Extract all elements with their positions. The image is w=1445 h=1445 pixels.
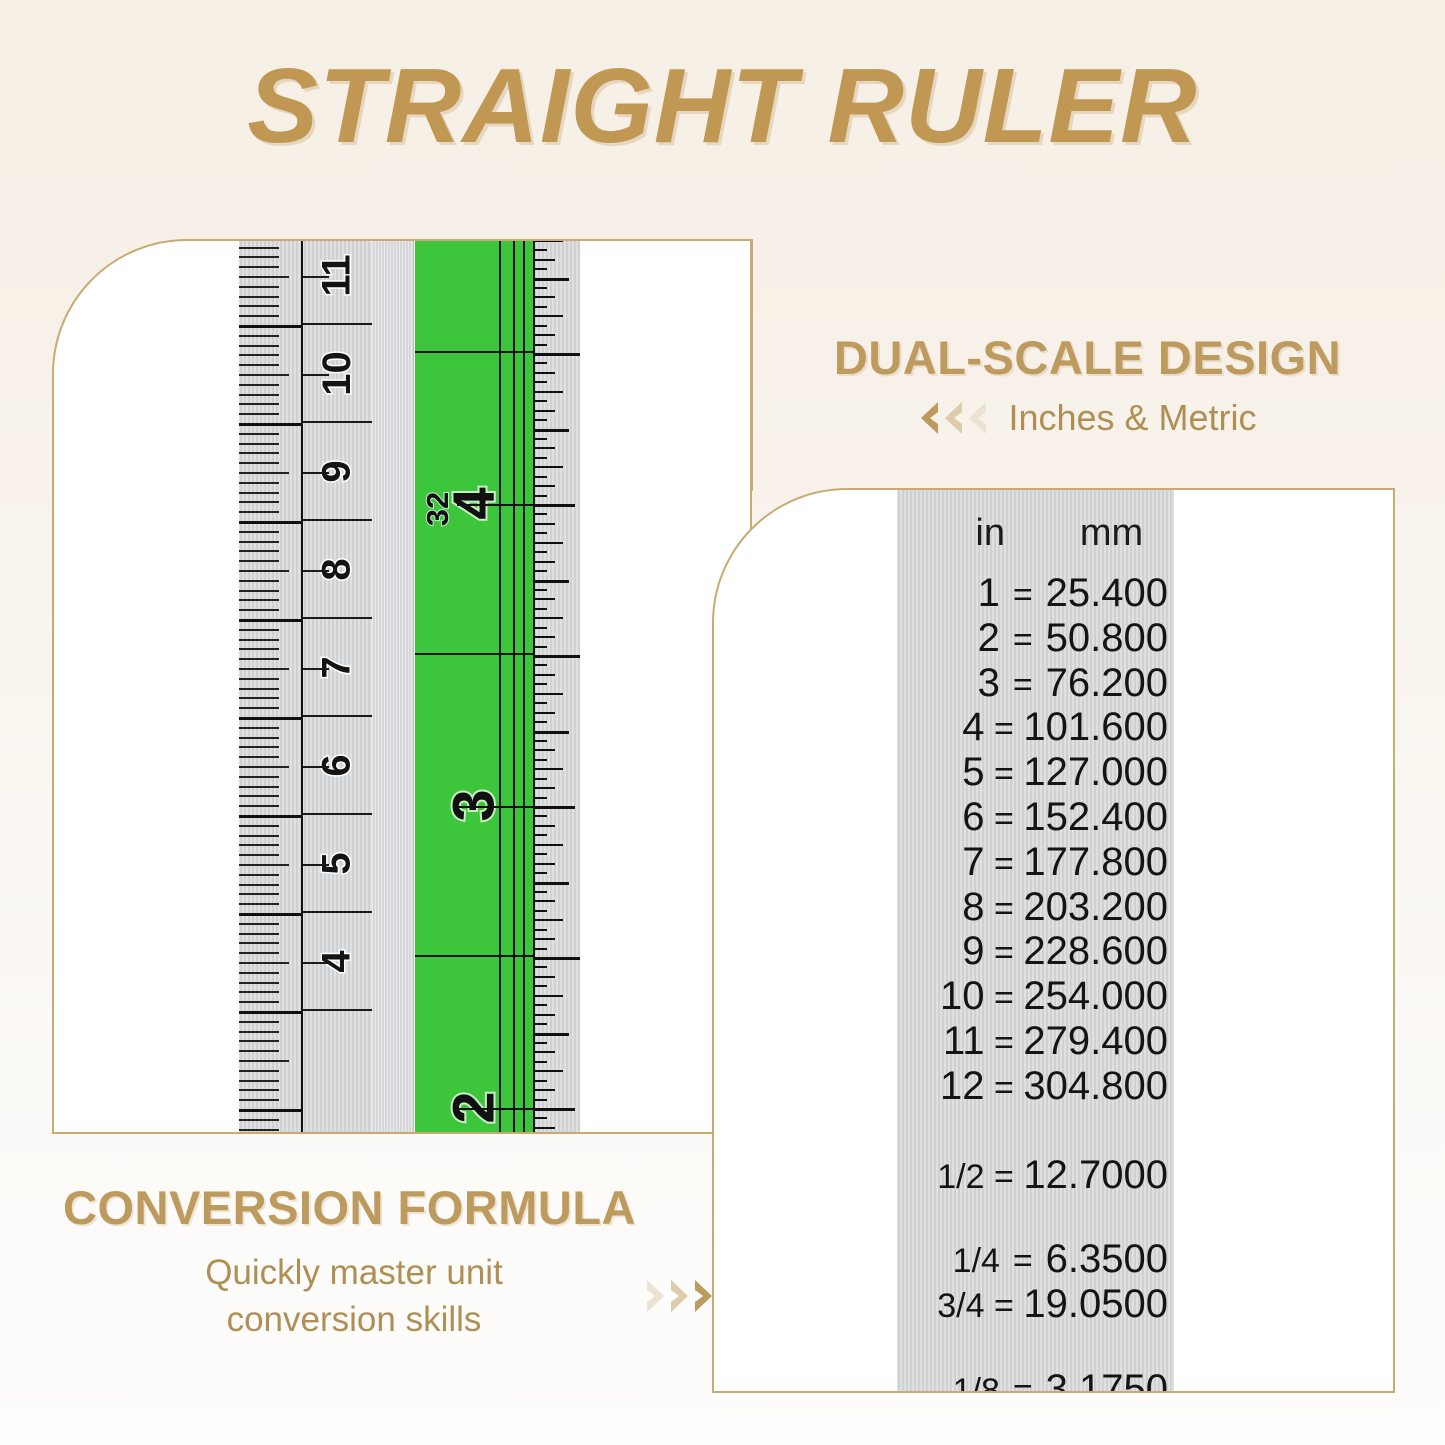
inch-fine-tick — [533, 410, 555, 412]
table-cell-mm: 19.0500 — [1023, 1282, 1174, 1327]
metric-tick — [239, 815, 301, 818]
metric-tick — [239, 501, 279, 503]
metric-tick — [239, 805, 279, 807]
metric-cm-number: 4 — [315, 950, 360, 972]
table-cell-in: 5 — [897, 750, 985, 795]
inch-fine-tick — [533, 608, 547, 610]
table-row: 1/4=6.3500 — [897, 1237, 1174, 1282]
table-row: 9=228.600 — [897, 929, 1174, 974]
metric-tick — [239, 296, 279, 298]
inch-fine-tick — [533, 278, 569, 281]
inch-fine-tick — [533, 910, 547, 912]
table-cell-mm: 50.800 — [1046, 616, 1174, 661]
metric-tick — [239, 835, 279, 837]
metric-cm-number: 7 — [315, 656, 360, 678]
table-row: 1/2=12.7000 — [897, 1153, 1174, 1198]
metric-cm-number: 8 — [315, 558, 360, 580]
metric-half-cm-tick — [303, 668, 329, 670]
table-cell-mm: 254.000 — [1023, 974, 1174, 1019]
inch-fine-graduations — [533, 241, 580, 1134]
metric-scale: 1110987654 — [239, 241, 372, 1134]
table-row: 5=127.000 — [897, 750, 1174, 795]
metric-tick — [239, 345, 279, 347]
inch-fine-tick — [533, 570, 547, 572]
conversion-formula-subline-row: Quickly master unit conversion skills — [55, 1249, 715, 1344]
metric-tick — [239, 795, 279, 797]
table-cell-equals: = — [985, 800, 1024, 838]
inch-fine-tick — [533, 381, 547, 383]
metric-tick — [239, 776, 279, 778]
chevron-left-icon — [918, 401, 940, 435]
metric-tick — [239, 697, 279, 699]
chevron-right-icon — [693, 1279, 715, 1313]
dual-scale-subline-row: Inches & Metric — [775, 397, 1400, 439]
inch-fine-tick — [533, 636, 555, 638]
metric-tick — [239, 923, 279, 925]
conversion-table-plate: in mm 1=25.4002=50.8003=76.2004=101.6005… — [897, 490, 1174, 1393]
inch-fine-tick — [533, 306, 547, 308]
table-cell-in: 6 — [897, 795, 985, 840]
table-cell-equals: = — [985, 934, 1024, 972]
metric-tick — [239, 305, 279, 307]
table-cell-in: 1/2 — [897, 1158, 985, 1196]
inch-fine-tick — [533, 240, 563, 242]
metric-tick — [239, 256, 279, 258]
metric-tick — [239, 335, 279, 337]
table-cell-mm: 25.400 — [1046, 571, 1174, 616]
conversion-formula-feature: CONVERSION FORMULA Quickly master unit c… — [55, 1180, 715, 1344]
table-cell-mm: 228.600 — [1023, 929, 1174, 974]
inch-fine-tick — [533, 447, 555, 449]
inch-fine-tick — [533, 882, 569, 885]
metric-tick — [239, 570, 289, 572]
metric-tick — [239, 756, 279, 758]
metric-tick — [239, 766, 289, 768]
table-cell-equals: = — [985, 1024, 1024, 1062]
inch-fraction-marker: 32 — [420, 492, 456, 526]
table-cell-equals: = — [985, 1069, 1024, 1107]
inch-fine-tick — [533, 523, 555, 525]
metric-tick — [239, 746, 279, 748]
metric-tick — [239, 874, 279, 876]
chevron-left-group — [918, 401, 988, 435]
chevron-left-icon — [942, 401, 964, 435]
inch-fine-tick — [533, 891, 547, 893]
table-cell-in: 3 — [897, 661, 1000, 706]
inch-fine-tick — [533, 749, 555, 751]
inch-fine-tick — [533, 268, 547, 270]
inch-fine-tick — [533, 863, 555, 865]
metric-tick — [239, 629, 279, 631]
table-cell-equals: = — [985, 890, 1024, 928]
inch-fine-tick — [533, 429, 569, 432]
table-cell-equals: = — [985, 1158, 1024, 1196]
table-cell-mm: 152.400 — [1023, 795, 1174, 840]
table-rows-quarter: 1/4=6.35003/4=19.0500 — [897, 1237, 1174, 1327]
inch-fine-tick — [533, 853, 547, 855]
table-rows-half: 1/2=12.7000 — [897, 1153, 1174, 1198]
table-cell-mm: 279.400 — [1023, 1019, 1174, 1064]
metric-tick-marks — [239, 241, 301, 1134]
inch-fine-tick — [533, 1070, 563, 1072]
inch-fine-tick — [533, 438, 547, 440]
metric-tick — [239, 394, 279, 396]
metric-tick — [239, 472, 289, 474]
inch-fine-tick — [533, 466, 563, 468]
inch-fine-tick — [533, 580, 569, 583]
inch-fine-tick — [533, 419, 547, 421]
inch-fine-tick — [533, 476, 547, 478]
inch-fine-tick — [533, 674, 555, 676]
chevron-right-group — [645, 1279, 715, 1313]
metric-tick — [239, 1001, 279, 1003]
table-cell-equals: = — [985, 710, 1024, 748]
inch-fine-tick — [533, 721, 547, 723]
metric-tick — [239, 452, 279, 454]
inch-fine-tick — [533, 1042, 547, 1044]
inch-fine-tick — [533, 844, 563, 846]
inch-fine-tick — [533, 391, 563, 393]
metric-tick — [239, 560, 279, 562]
metric-tick — [239, 433, 279, 435]
table-cell-equals: = — [1000, 621, 1046, 659]
metric-tick — [239, 286, 279, 288]
inch-fine-tick — [533, 542, 563, 544]
table-cell-mm: 101.600 — [1023, 705, 1174, 750]
inch-rail-line — [513, 241, 515, 1134]
table-row: 4=101.600 — [897, 705, 1174, 750]
table-cell-mm: 203.200 — [1023, 885, 1174, 930]
dual-scale-headline: DUAL-SCALE DESIGN — [775, 330, 1400, 385]
inch-fine-tick — [533, 561, 555, 563]
page-title: STRAIGHT RULER — [0, 46, 1445, 167]
metric-tick — [239, 374, 289, 376]
inch-fine-tick — [533, 598, 555, 600]
inch-fine-tick — [533, 1004, 547, 1006]
conversion-table: in mm 1=25.4002=50.8003=76.2004=101.6005… — [897, 512, 1174, 1393]
inch-fine-tick — [533, 806, 575, 809]
metric-tick — [239, 786, 279, 788]
metric-tick — [239, 668, 289, 670]
inch-fine-tick — [533, 1014, 555, 1016]
metric-tick — [239, 364, 279, 366]
metric-tick — [239, 541, 279, 543]
inch-fine-tick — [533, 513, 547, 515]
inch-fine-tick — [533, 617, 563, 619]
inch-fine-tick — [533, 589, 547, 591]
inch-rail-line — [523, 241, 525, 1134]
inch-half-tick — [457, 806, 533, 808]
metric-tick — [239, 521, 301, 524]
metric-tick — [239, 482, 279, 484]
metric-tick — [239, 952, 279, 954]
metric-tick — [239, 1129, 279, 1131]
inch-fine-tick — [533, 712, 555, 714]
metric-tick — [239, 982, 279, 984]
table-cell-equals: = — [985, 755, 1024, 793]
metric-tick — [239, 580, 279, 582]
table-gap-1 — [897, 1109, 1174, 1153]
table-cell-in: 1/8 — [897, 1372, 1000, 1393]
metric-tick — [239, 247, 279, 249]
table-row: 12=304.800 — [897, 1064, 1174, 1109]
metric-tick — [239, 737, 279, 739]
table-cell-mm: 177.800 — [1023, 840, 1174, 885]
fine-rail-left — [533, 241, 535, 1134]
metric-tick — [239, 658, 279, 660]
table-header-mm: mm — [1053, 512, 1174, 555]
inch-fine-tick — [533, 929, 547, 931]
metric-tick — [239, 315, 279, 317]
metric-tick — [239, 825, 279, 827]
inch-fine-tick — [533, 919, 563, 921]
inch-fine-tick — [533, 1089, 555, 1091]
metric-tick — [239, 962, 289, 964]
inch-fine-tick — [533, 1023, 547, 1025]
table-cell-equals: = — [1000, 1372, 1046, 1393]
table-row: 1/8=3.1750 — [897, 1367, 1174, 1393]
metric-cm-number: 9 — [315, 460, 360, 482]
table-rows-whole: 1=25.4002=50.8003=76.2004=101.6005=127.0… — [897, 571, 1174, 1109]
metric-tick — [239, 1040, 279, 1042]
inch-cell-partial — [415, 241, 533, 353]
inch-half-tick — [457, 1108, 533, 1110]
table-cell-in: 12 — [897, 1064, 985, 1109]
metric-number-column: 1110987654 — [301, 241, 372, 1134]
metric-half-cm-tick — [303, 766, 329, 768]
inch-fine-tick — [533, 976, 555, 978]
inch-fine-tick — [533, 948, 547, 950]
inch-fine-tick — [533, 787, 555, 789]
metric-tick — [239, 1060, 289, 1062]
table-cell-mm: 3.1750 — [1046, 1367, 1174, 1393]
inch-scale-green: 43232 — [415, 241, 533, 1134]
inch-rail-line — [499, 241, 501, 1134]
chevron-left-icon — [966, 401, 988, 435]
metric-half-cm-tick — [303, 374, 329, 376]
inch-fine-tick — [533, 344, 547, 346]
metric-tick — [239, 1031, 279, 1033]
table-row: 3=76.200 — [897, 661, 1174, 706]
table-cell-equals: = — [1000, 576, 1046, 614]
inch-fine-tick — [533, 485, 555, 487]
table-cell-equals: = — [985, 979, 1024, 1017]
metric-cm-number: 10 — [315, 351, 360, 396]
ruler-blank-band — [372, 241, 414, 1134]
table-header-spacer — [1005, 512, 1053, 555]
table-row: 11=279.400 — [897, 1019, 1174, 1064]
inch-fine-tick — [533, 296, 555, 298]
inch-fine-tick — [533, 655, 580, 658]
metric-tick — [239, 413, 279, 415]
inch-fine-tick — [533, 362, 547, 364]
inch-fine-tick — [533, 693, 563, 695]
table-header-row: in mm — [897, 512, 1174, 555]
table-cell-equals: = — [985, 845, 1024, 883]
metric-tick — [239, 531, 279, 533]
metric-tick — [239, 619, 301, 622]
inch-fine-tick — [533, 957, 580, 960]
metric-half-cm-tick — [303, 962, 329, 964]
inch-fine-tick — [533, 1061, 547, 1063]
metric-tick — [239, 1021, 279, 1023]
metric-tick — [239, 903, 279, 905]
inch-fine-tick — [533, 287, 547, 289]
infographic-canvas: STRAIGHT RULER 1110987654 43232 in — [0, 0, 1445, 1445]
metric-tick — [239, 276, 289, 278]
inch-fine-tick — [533, 495, 547, 497]
metric-tick — [239, 1109, 301, 1112]
inch-fine-tick — [533, 664, 547, 666]
table-cell-in: 4 — [897, 705, 985, 750]
conversion-table-panel: in mm 1=25.4002=50.8003=76.2004=101.6005… — [712, 488, 1395, 1393]
inch-fine-tick — [533, 938, 555, 940]
table-cell-in: 3/4 — [897, 1287, 985, 1325]
table-cell-in: 7 — [897, 840, 985, 885]
metric-tick — [239, 639, 279, 641]
inch-number: 3 — [440, 789, 507, 821]
metric-tick — [239, 678, 279, 680]
inch-number: 2 — [440, 1091, 507, 1123]
inch-fine-tick — [533, 778, 547, 780]
ruler-image-panel: 1110987654 43232 — [52, 239, 752, 1134]
table-cell-mm: 127.000 — [1023, 750, 1174, 795]
metric-half-cm-tick — [303, 276, 329, 278]
table-cell-equals: = — [985, 1287, 1024, 1325]
table-gap-2 — [897, 1197, 1174, 1237]
metric-tick — [239, 354, 279, 356]
table-row: 3/4=19.0500 — [897, 1282, 1174, 1327]
metric-tick — [239, 913, 301, 916]
metric-tick — [239, 403, 279, 405]
metric-tick — [239, 933, 279, 935]
inch-fine-tick — [533, 249, 547, 251]
table-row: 8=203.200 — [897, 885, 1174, 930]
metric-tick — [239, 1119, 279, 1121]
inch-fine-tick — [533, 1127, 555, 1129]
inch-fine-tick — [533, 1117, 547, 1119]
metric-tick — [239, 1099, 279, 1101]
table-cell-mm: 6.3500 — [1046, 1237, 1174, 1282]
table-cell-in: 2 — [897, 616, 1000, 661]
conversion-formula-subline-2: conversion skills — [63, 1296, 645, 1343]
metric-tick — [239, 384, 279, 386]
metric-tick — [239, 942, 279, 944]
inch-fine-tick — [533, 1099, 547, 1101]
metric-half-cm-tick — [303, 570, 329, 572]
dual-scale-feature: DUAL-SCALE DESIGN Inches & Metric — [775, 330, 1400, 439]
metric-tick — [239, 991, 279, 993]
metric-cm-number: 11 — [315, 254, 360, 296]
inch-fine-tick — [533, 740, 547, 742]
inch-fine-tick — [533, 627, 547, 629]
metric-tick — [239, 1080, 279, 1082]
metric-tick — [239, 511, 279, 513]
table-cell-in: 8 — [897, 885, 985, 930]
metric-tick — [239, 325, 301, 328]
inch-fine-tick — [533, 995, 563, 997]
chevron-right-icon — [669, 1279, 691, 1313]
metric-tick — [239, 864, 289, 866]
inch-fine-tick — [533, 872, 547, 874]
metric-tick — [239, 972, 279, 974]
metric-tick — [239, 893, 279, 895]
table-cell-in: 10 — [897, 974, 985, 1019]
metric-tick — [239, 884, 279, 886]
metric-tick — [239, 550, 279, 552]
metric-tick — [239, 1050, 279, 1052]
inch-fine-tick — [533, 334, 555, 336]
table-row: 6=152.400 — [897, 795, 1174, 840]
conversion-formula-subline-1: Quickly master unit — [63, 1249, 645, 1296]
table-rows-eighth: 1/8=3.17503/8=9.52505/8=15.8750 — [897, 1367, 1174, 1393]
metric-tick — [239, 648, 279, 650]
metric-tick — [239, 1011, 301, 1014]
metric-tick — [239, 727, 279, 729]
metric-tick — [239, 462, 279, 464]
inch-fine-tick — [533, 834, 547, 836]
inch-fine-tick — [533, 353, 580, 356]
table-cell-in: 1 — [897, 571, 1000, 616]
inch-fine-tick — [533, 759, 547, 761]
metric-tick — [239, 854, 279, 856]
inch-fine-tick — [533, 457, 547, 459]
table-row: 10=254.000 — [897, 974, 1174, 1019]
inch-fine-tick — [533, 966, 547, 968]
table-gap-3 — [897, 1327, 1174, 1367]
inch-fine-tick — [533, 504, 575, 507]
table-row: 7=177.800 — [897, 840, 1174, 885]
inch-fine-tick — [533, 768, 563, 770]
ruler-illustration: 1110987654 43232 — [239, 241, 580, 1134]
metric-tick — [239, 707, 279, 709]
inch-fine-tick — [533, 900, 555, 902]
inch-fine-tick — [533, 1051, 555, 1053]
inch-fine-tick — [533, 1033, 569, 1036]
metric-cm-number: 5 — [315, 852, 360, 874]
table-cell-in: 1/4 — [897, 1242, 1000, 1280]
inch-fine-tick — [533, 551, 547, 553]
table-cell-in: 11 — [897, 1019, 985, 1064]
inch-fine-tick — [533, 325, 547, 327]
metric-half-cm-tick — [303, 472, 329, 474]
table-cell-equals: = — [1000, 666, 1046, 704]
conversion-formula-headline: CONVERSION FORMULA — [55, 1180, 715, 1235]
metric-tick — [239, 599, 279, 601]
table-header-in: in — [897, 512, 1005, 555]
inch-fine-tick — [533, 315, 563, 317]
metric-tick — [239, 266, 279, 268]
inch-fine-tick — [533, 985, 547, 987]
inch-half-tick — [457, 504, 533, 506]
inch-fine-tick — [533, 646, 547, 648]
inch-fine-tick — [533, 702, 547, 704]
inch-fine-tick — [533, 532, 547, 534]
metric-tick — [239, 1089, 279, 1091]
table-cell-equals: = — [1000, 1242, 1046, 1280]
metric-tick — [239, 492, 279, 494]
inch-fine-tick — [533, 825, 555, 827]
table-row: 2=50.800 — [897, 616, 1174, 661]
metric-tick — [239, 609, 279, 611]
inch-fine-tick — [533, 1080, 547, 1082]
metric-cm-cell: 11 — [303, 239, 372, 325]
inch-fine-tick — [533, 797, 547, 799]
inch-fine-tick — [533, 259, 555, 261]
metric-tick — [239, 423, 301, 426]
inch-fine-tick — [533, 683, 547, 685]
dual-scale-subline: Inches & Metric — [1008, 397, 1256, 439]
